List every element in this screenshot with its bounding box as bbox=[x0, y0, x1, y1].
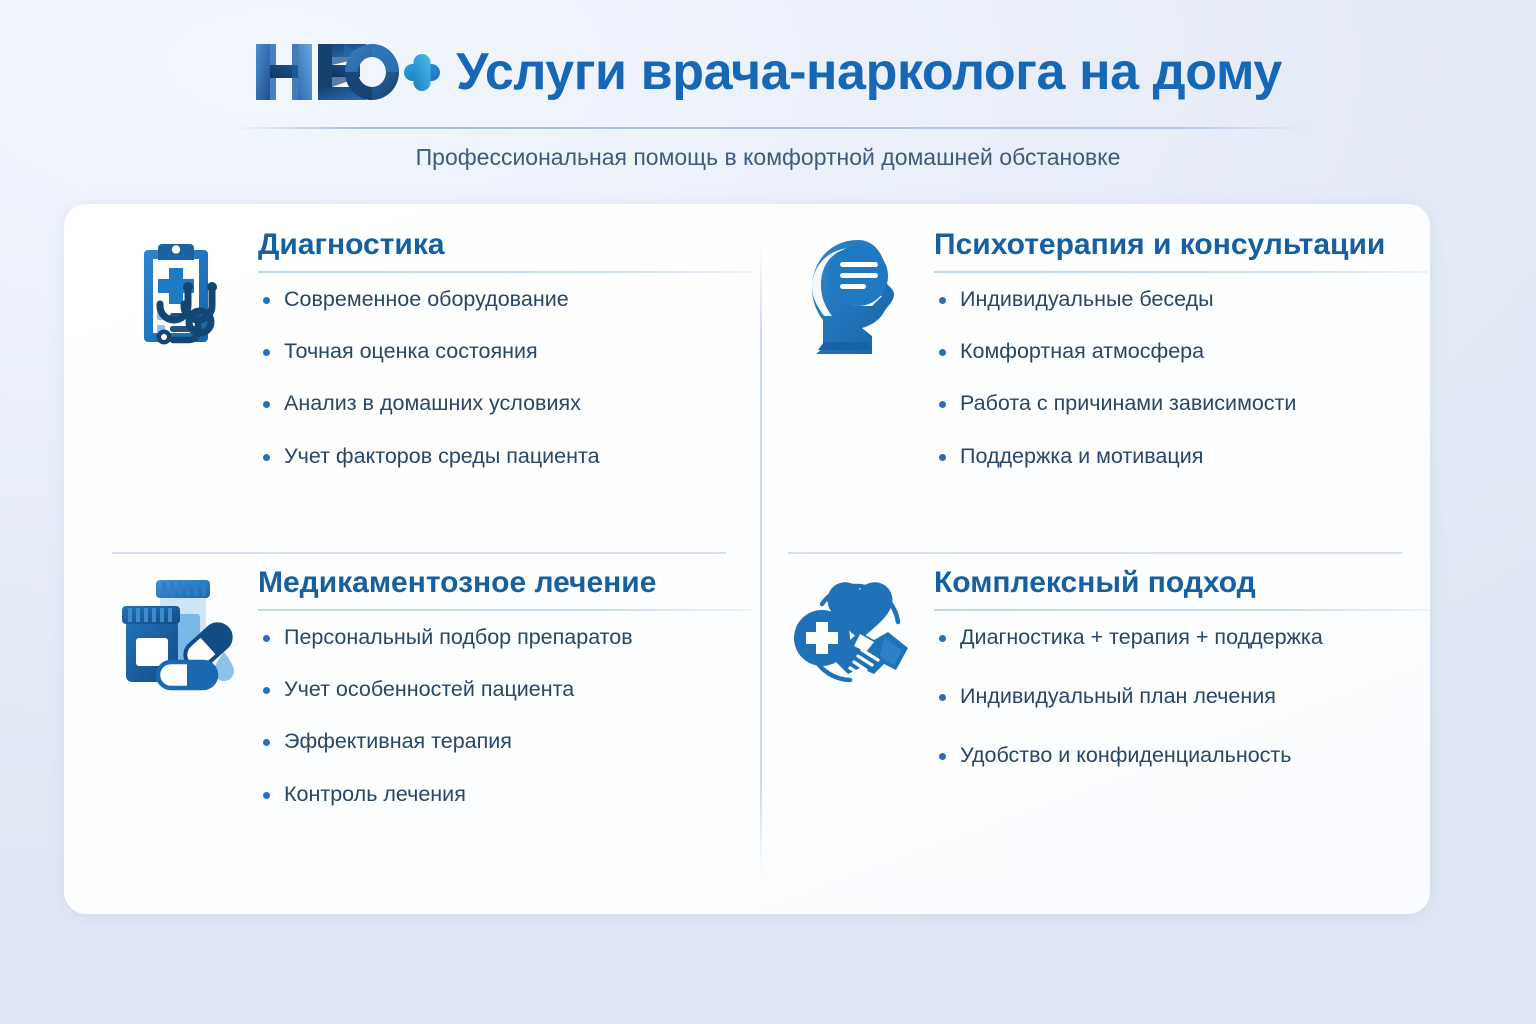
services-card: Диагностика Современное оборудование Точ… bbox=[64, 204, 1430, 914]
service-title: Диагностика bbox=[258, 228, 752, 262]
list-item: Индивидуальный план лечения bbox=[934, 684, 1428, 709]
heart-handshake-cross-icon bbox=[788, 570, 916, 698]
service-block-diagnostics: Диагностика Современное оборудование Точ… bbox=[112, 226, 752, 469]
service-bullet-list: Индивидуальные беседы Комфортная атмосфе… bbox=[934, 273, 1428, 469]
pill-bottles-capsules-icon bbox=[112, 570, 240, 698]
service-block-medication: Медикаментозное лечение Персональный под… bbox=[112, 564, 752, 807]
horizontal-divider-right bbox=[788, 552, 1402, 554]
service-title: Медикаментозное лечение bbox=[258, 566, 752, 600]
service-block-psychotherapy: Психотерапия и консультации Индивидуальн… bbox=[788, 226, 1428, 469]
list-item: Поддержка и мотивация bbox=[934, 444, 1428, 469]
head-speech-bubble-icon bbox=[788, 232, 916, 360]
vertical-divider bbox=[760, 244, 762, 874]
list-item: Современное оборудование bbox=[258, 287, 752, 312]
list-item: Удобство и конфиденциальность bbox=[934, 743, 1428, 768]
infographic-page: Услуги врача-нарколога на дому Профессио… bbox=[0, 0, 1536, 1024]
list-item: Эффективная терапия bbox=[258, 729, 752, 754]
list-item: Учет особенностей пациента bbox=[258, 677, 752, 702]
list-item: Диагностика + терапия + поддержка bbox=[934, 625, 1428, 650]
list-item: Контроль лечения bbox=[258, 782, 752, 807]
header-divider bbox=[232, 127, 1310, 129]
neo-plus-logo bbox=[254, 38, 440, 106]
service-title: Психотерапия и консультации bbox=[934, 228, 1428, 262]
list-item: Анализ в домашних условиях bbox=[258, 391, 752, 416]
list-item: Точная оценка состояния bbox=[258, 339, 752, 364]
page-subtitle: Профессиональная помощь в комфортной дом… bbox=[0, 144, 1536, 171]
page-title: Услуги врача-нарколога на дому bbox=[456, 46, 1282, 98]
service-bullet-list: Диагностика + терапия + поддержка Индиви… bbox=[934, 611, 1428, 769]
list-item: Учет факторов среды пациента bbox=[258, 444, 752, 469]
list-item: Индивидуальные беседы bbox=[934, 287, 1428, 312]
list-item: Персональный подбор препаратов bbox=[258, 625, 752, 650]
service-bullet-list: Персональный подбор препаратов Учет особ… bbox=[258, 611, 752, 807]
service-bullet-list: Современное оборудование Точная оценка с… bbox=[258, 273, 752, 469]
list-item: Работа с причинами зависимости bbox=[934, 391, 1428, 416]
service-block-complex-approach: Комплексный подход Диагностика + терапия… bbox=[788, 564, 1428, 803]
clipboard-stethoscope-icon bbox=[112, 232, 240, 360]
horizontal-divider-left bbox=[112, 552, 726, 554]
header: Услуги врача-нарколога на дому Профессио… bbox=[0, 0, 1536, 195]
service-title: Комплексный подход bbox=[934, 566, 1428, 600]
brand-row: Услуги врача-нарколога на дому bbox=[0, 38, 1536, 106]
list-item: Комфортная атмосфера bbox=[934, 339, 1428, 364]
